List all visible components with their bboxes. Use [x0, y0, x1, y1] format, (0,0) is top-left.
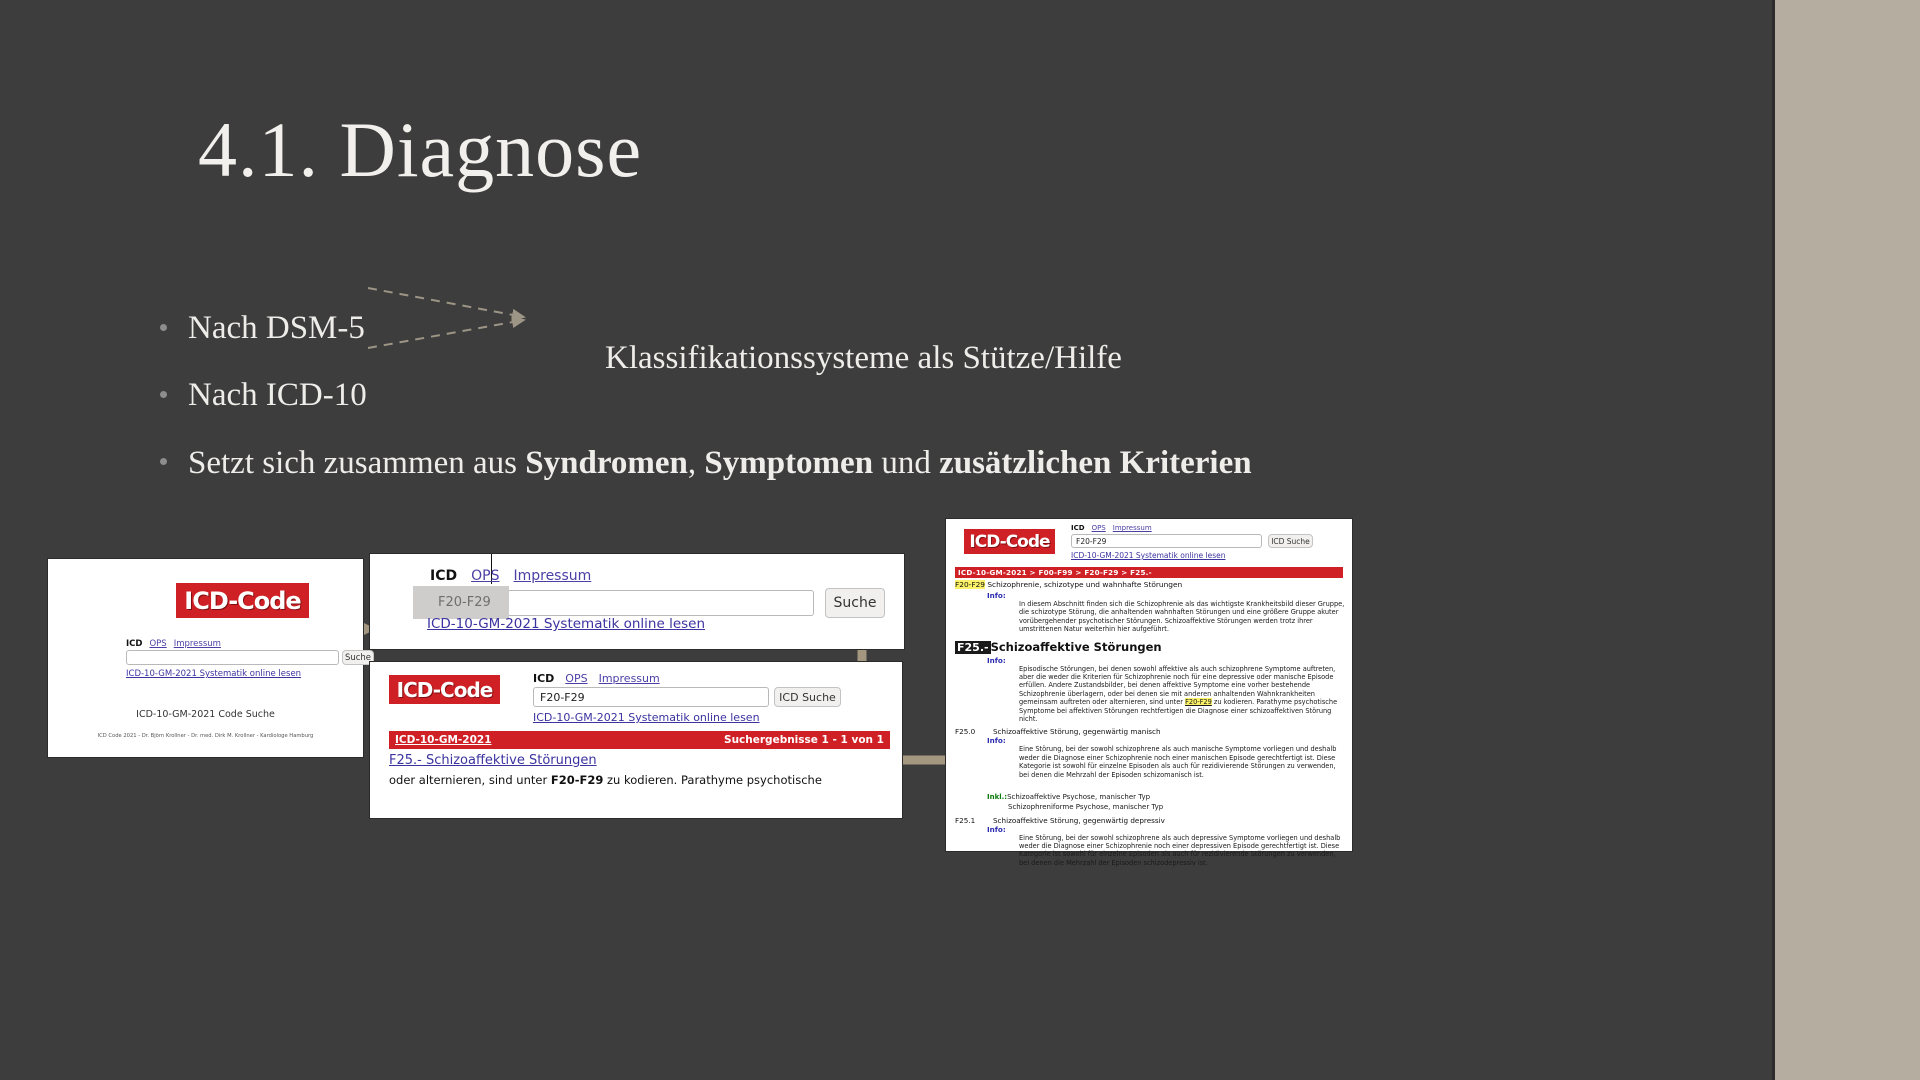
f25-1-title: Schizoaffektive Störung, gegenwärtig dep… [993, 816, 1165, 825]
screenshot-code-detail[interactable]: ICD-Code ICDOPSImpressum F20-F29 ICD Suc… [945, 518, 1353, 852]
f25-1-row: F25.1 Schizoaffektive Störung, gegenwärt… [955, 816, 1346, 825]
search-button[interactable]: ICD Suche [774, 687, 841, 707]
f25-0-info-block: Info: Eine Störung, bei der sowohl schiz… [987, 736, 1346, 779]
systematik-link[interactable]: ICD-10-GM-2021 Systematik online lesen [427, 616, 705, 632]
inkl-block: Inkl.:Schizoaffektive Psychose, manische… [987, 784, 1346, 811]
info-label: Info: [987, 825, 1346, 834]
text-bold-symptomen: Symptomen [704, 445, 873, 481]
nav-impressum-link[interactable]: Impressum [513, 568, 591, 584]
info-label: Info: [987, 591, 1346, 600]
text-pre: Setzt sich zusammen aus [188, 445, 525, 481]
f25-heading: F25.-Schizoaffektive Störungen [955, 640, 1346, 654]
nav-ops-link[interactable]: OPS [1092, 524, 1106, 532]
search-input[interactable]: F20-F29 [1071, 534, 1262, 548]
text-mid2: und [873, 445, 939, 481]
systematik-link[interactable]: ICD-10-GM-2021 Systematik online lesen [533, 711, 760, 724]
f25-0-code: F25.0 [955, 727, 993, 736]
results-count: Suchergebnisse 1 - 1 von 1 [724, 734, 884, 746]
f25-1-info-block: Info: Eine Störung, bei der sowohl schiz… [987, 825, 1346, 868]
result-item-snippet: oder alternieren, sind unter F20-F29 zu … [389, 773, 822, 787]
page-title: 4.1. Diagnose [198, 105, 642, 195]
screenshot-search-results[interactable]: ICD-Code ICDOPSImpressum F20-F29 ICD Suc… [369, 661, 903, 819]
chapter-title: Schizophrenie, schizotype und wahnhafte … [987, 580, 1182, 589]
search-input[interactable]: F20-F29 [533, 687, 769, 707]
chapter-code: F20-F29 [955, 580, 985, 589]
footer-credits: ICD Code 2021 - Dr. Björn Krollner - Dr.… [48, 733, 363, 739]
chapter-heading: F20-F29 Schizophrenie, schizotype und wa… [955, 580, 1346, 589]
search-button[interactable]: ICD Suche [1268, 534, 1313, 548]
nav-ops-link[interactable]: OPS [471, 568, 499, 584]
search-button[interactable]: Suche [825, 588, 885, 618]
site-nav: ICDOPSImpressum [533, 672, 660, 685]
screenshot-search-zoom[interactable]: ICDOPSImpressum F20-F29 Suche ICD-10-GM-… [369, 553, 905, 650]
icd-code-logo: ICD-Code [964, 529, 1055, 554]
slide-canvas: 4.1. Diagnose Nach DSM-5 Nach ICD-10 [0, 0, 1775, 1080]
f25-0-info-text: Eine Störung, bei der sowohl schizophren… [1019, 745, 1346, 779]
bullet-item-icd10: Nach ICD-10 [160, 375, 367, 415]
chapter-info-text: In diesem Abschnitt finden sich die Schi… [1019, 600, 1346, 634]
workspace-background [1775, 0, 1920, 1080]
text-bold-syndromen: Syndromen [525, 445, 688, 481]
nav-impressum-link[interactable]: Impressum [174, 639, 221, 649]
screenshot-icd-home[interactable]: ICD-Code ICDOPSImpressum Suche ICD-10-GM… [47, 558, 364, 758]
search-input[interactable] [126, 650, 339, 665]
inkl-line-2: Schizophreniforme Psychose, manischer Ty… [1008, 803, 1346, 811]
bullet-label-composite: Setzt sich zusammen aus Syndromen, Sympt… [188, 442, 1420, 484]
site-nav: ICDOPSImpressum [126, 639, 221, 649]
f25-0-row: F25.0 Schizoaffektive Störung, gegenwärt… [955, 727, 1346, 736]
f25-info-block: Info: Episodische Störungen, bei denen s… [987, 656, 1346, 724]
site-nav: ICDOPSImpressum [1071, 524, 1152, 532]
inkl-label: Inkl.: [987, 793, 1007, 801]
classification-note: Klassifikationssysteme als Stütze/Hilfe [605, 340, 1122, 377]
systematik-link[interactable]: ICD-10-GM-2021 Systematik online lesen [1071, 551, 1225, 560]
inkl-line-1: Schizoaffektive Psychose, manischer Typ [1007, 793, 1150, 801]
results-header-left: ICD-10-GM-2021 [395, 734, 492, 746]
nav-icd-label: ICD [430, 568, 457, 584]
bullet-dot-icon [160, 458, 167, 465]
info-label: Info: [987, 736, 1346, 745]
nav-ops-link[interactable]: OPS [565, 672, 587, 685]
nav-ops-link[interactable]: OPS [149, 639, 166, 649]
systematik-link[interactable]: ICD-10-GM-2021 Systematik online lesen [126, 669, 301, 679]
nav-icd-label: ICD [126, 639, 142, 649]
nav-impressum-link[interactable]: Impressum [599, 672, 660, 685]
site-nav: ICDOPSImpressum [430, 568, 591, 584]
snippet-code: F20-F29 [551, 773, 604, 787]
f25-code: F25.- [955, 641, 991, 654]
bullet-label: Nach ICD-10 [188, 375, 367, 415]
f25-info-text: Episodische Störungen, bei denen sowohl … [1019, 665, 1346, 724]
nav-icd-label: ICD [1071, 524, 1085, 532]
chapter-info-block: Info: In diesem Abschnitt finden sich di… [987, 591, 1346, 634]
f25-1-code: F25.1 [955, 816, 993, 825]
breadcrumb: ICD-10-GM-2021 > F00-F99 > F20-F29 > F25… [955, 567, 1343, 578]
f25-info-highlight: F20-F29 [1185, 698, 1212, 706]
info-label: Info: [987, 656, 1346, 665]
search-input-value[interactable]: F20-F29 [438, 595, 491, 610]
footer-title: ICD-10-GM-2021 Code Suche [48, 709, 363, 720]
f25-0-title: Schizoaffektive Störung, gegenwärtig man… [993, 727, 1161, 736]
detail-body: F20-F29 Schizophrenie, schizotype und wa… [955, 580, 1346, 849]
result-item-link[interactable]: F25.- Schizoaffektive Störungen [389, 753, 597, 768]
text-bold-kriterien: zusätzlichen Kriterien [939, 445, 1252, 481]
bullet-item-dsm5: Nach DSM-5 [160, 308, 365, 348]
f25-1-info-text: Eine Störung, bei der sowohl schizophren… [1019, 834, 1346, 868]
snippet-pre: oder alternieren, sind unter [389, 773, 551, 787]
text-mid1: , [688, 445, 705, 481]
f25-title: Schizoaffektive Störungen [991, 640, 1162, 654]
results-header-bar: ICD-10-GM-2021 Suchergebnisse 1 - 1 von … [389, 731, 890, 749]
icd-code-logo: ICD-Code [389, 675, 500, 704]
bullet-label: Nach DSM-5 [188, 308, 365, 348]
bullet-dot-icon [160, 391, 167, 398]
icd-code-logo: ICD-Code [176, 583, 309, 618]
snippet-post: zu kodieren. Parathyme psychotische [603, 773, 822, 787]
nav-impressum-link[interactable]: Impressum [1113, 524, 1152, 532]
bullet-item-components: Setzt sich zusammen aus Syndromen, Sympt… [160, 442, 1420, 484]
nav-icd-label: ICD [533, 672, 554, 685]
bullet-dot-icon [160, 324, 167, 331]
